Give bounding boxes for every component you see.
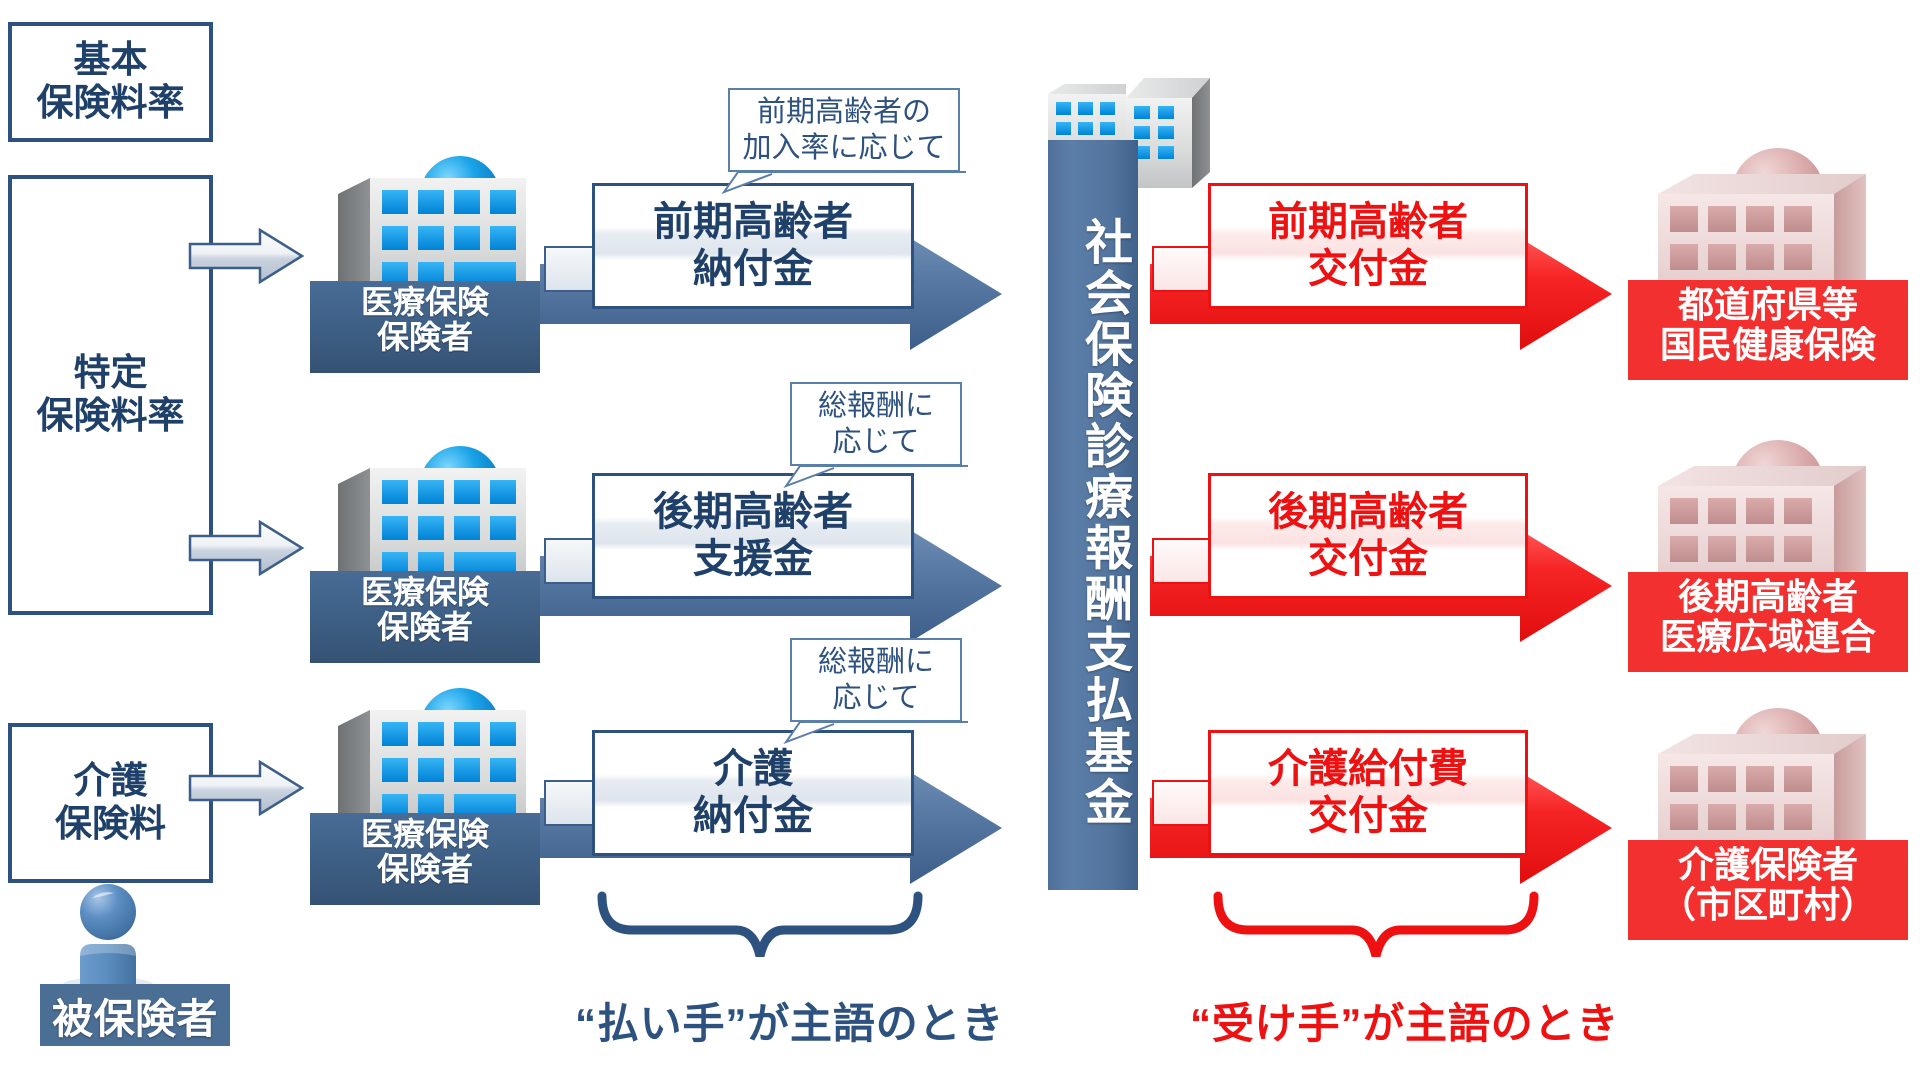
insurer-2-label: 医療保険 保険者 bbox=[310, 571, 540, 663]
grant-stub-1 bbox=[1152, 246, 1214, 292]
dest-1: 都道府県等 国民健康保険 bbox=[1628, 140, 1908, 380]
rate-box-care-line1: 介護 bbox=[55, 760, 166, 803]
payment-box-2-line1: 後期高齢者 bbox=[653, 489, 853, 536]
dest-3-line2: （市区町村） bbox=[1628, 885, 1908, 925]
brace-left bbox=[596, 892, 916, 964]
insurer-2-line2: 保険者 bbox=[310, 610, 540, 645]
payment-box-2-line2: 支援金 bbox=[693, 536, 813, 583]
grant-stub-3 bbox=[1152, 780, 1214, 826]
dest-2-line1: 後期高齢者 bbox=[1628, 577, 1908, 617]
grant-box-1-line2: 交付金 bbox=[1308, 246, 1428, 293]
callout-1-tail bbox=[716, 170, 966, 196]
dest-3-line1: 介護保険者 bbox=[1628, 845, 1908, 885]
fund-bar: 社会保険診療報酬支払基金 bbox=[1048, 140, 1138, 890]
grant-box-1: 前期高齢者 交付金 bbox=[1208, 183, 1528, 309]
caption-left: “払い手”が主語のとき bbox=[575, 990, 955, 1051]
grant-box-3: 介護給付費 交付金 bbox=[1208, 730, 1528, 856]
dest-2-line2: 医療広域連合 bbox=[1628, 617, 1908, 657]
callout-2-tail bbox=[778, 464, 968, 490]
grant-box-3-line1: 介護給付費 bbox=[1268, 746, 1468, 793]
fund-name: 社会保険診療報酬支払基金 bbox=[1068, 217, 1138, 828]
dest-1-line2: 国民健康保険 bbox=[1628, 325, 1908, 365]
payment-box-1-line2: 納付金 bbox=[693, 246, 813, 293]
insurer-2: 医療保険 保険者 bbox=[310, 438, 540, 663]
callout-2: 総報酬に 応じて bbox=[790, 382, 962, 466]
insurer-3-label: 医療保険 保険者 bbox=[310, 813, 540, 905]
callout-3-line2: 応じて bbox=[832, 680, 919, 716]
grant-stub-2 bbox=[1152, 538, 1214, 584]
payment-box-3-line1: 介護 bbox=[713, 746, 793, 793]
callout-2-line2: 応じて bbox=[832, 424, 919, 460]
payment-box-2: 後期高齢者 支援金 bbox=[592, 473, 914, 599]
rate-box-care: 介護 保険料 bbox=[8, 723, 213, 883]
insured-person: 被保険者 bbox=[40, 880, 230, 1070]
rate-box-basic-line1: 基本 bbox=[37, 39, 185, 82]
payment-box-1: 前期高齢者 納付金 bbox=[592, 183, 914, 309]
insurer-3: 医療保険 保険者 bbox=[310, 680, 540, 905]
insurer-1-line2: 保険者 bbox=[310, 320, 540, 355]
grant-box-2-line1: 後期高齢者 bbox=[1268, 489, 1468, 536]
insurer-1: 医療保険 保険者 bbox=[310, 148, 540, 373]
insurer-1-label: 医療保険 保険者 bbox=[310, 281, 540, 373]
rate-box-specific-line1: 特定 bbox=[37, 352, 185, 395]
caption-right: “受け手”が主語のとき bbox=[1190, 990, 1570, 1051]
insured-label-chip: 被保険者 bbox=[40, 984, 230, 1046]
rate-box-care-line2: 保険料 bbox=[55, 803, 166, 846]
callout-1-line2: 加入率に応じて bbox=[742, 130, 945, 166]
grey-arrow-1 bbox=[190, 228, 310, 288]
diagram-canvas: 基本 保険料率 特定 保険料率 介護 保険料 被保険者 bbox=[0, 0, 1920, 1080]
rate-box-basic-line2: 保険料率 bbox=[37, 82, 185, 125]
rate-box-specific: 特定 保険料率 bbox=[8, 175, 213, 615]
dest-2: 後期高齢者 医療広域連合 bbox=[1628, 432, 1908, 672]
grey-arrow-3 bbox=[190, 760, 310, 820]
rate-box-basic: 基本 保険料率 bbox=[8, 22, 213, 142]
grey-arrow-2 bbox=[190, 520, 310, 580]
dest-3: 介護保険者 （市区町村） bbox=[1628, 700, 1908, 940]
callout-3: 総報酬に 応じて bbox=[790, 638, 962, 722]
dest-1-label: 都道府県等 国民健康保険 bbox=[1628, 280, 1908, 380]
insurer-1-line1: 医療保険 bbox=[310, 285, 540, 320]
rate-box-specific-line2: 保険料率 bbox=[37, 395, 185, 438]
insurer-3-line1: 医療保険 bbox=[310, 817, 540, 852]
callout-1-line1: 前期高齢者の bbox=[757, 94, 931, 130]
dest-3-label: 介護保険者 （市区町村） bbox=[1628, 840, 1908, 940]
dest-2-label: 後期高齢者 医療広域連合 bbox=[1628, 572, 1908, 672]
payment-box-3-line2: 納付金 bbox=[693, 793, 813, 840]
grant-box-3-line2: 交付金 bbox=[1308, 793, 1428, 840]
callout-3-tail bbox=[778, 720, 968, 746]
grant-box-1-line1: 前期高齢者 bbox=[1268, 199, 1468, 246]
callout-3-line1: 総報酬に bbox=[818, 644, 934, 680]
insured-label: 被保険者 bbox=[52, 985, 218, 1045]
brace-right bbox=[1212, 892, 1532, 964]
payment-box-3: 介護 納付金 bbox=[592, 730, 914, 856]
payment-box-1-line1: 前期高齢者 bbox=[653, 199, 853, 246]
insurer-3-line2: 保険者 bbox=[310, 852, 540, 887]
dest-1-line1: 都道府県等 bbox=[1628, 285, 1908, 325]
grant-box-2: 後期高齢者 交付金 bbox=[1208, 473, 1528, 599]
callout-1: 前期高齢者の 加入率に応じて bbox=[728, 88, 960, 172]
callout-2-line1: 総報酬に bbox=[818, 388, 934, 424]
insurer-2-line1: 医療保険 bbox=[310, 575, 540, 610]
grant-box-2-line2: 交付金 bbox=[1308, 536, 1428, 583]
